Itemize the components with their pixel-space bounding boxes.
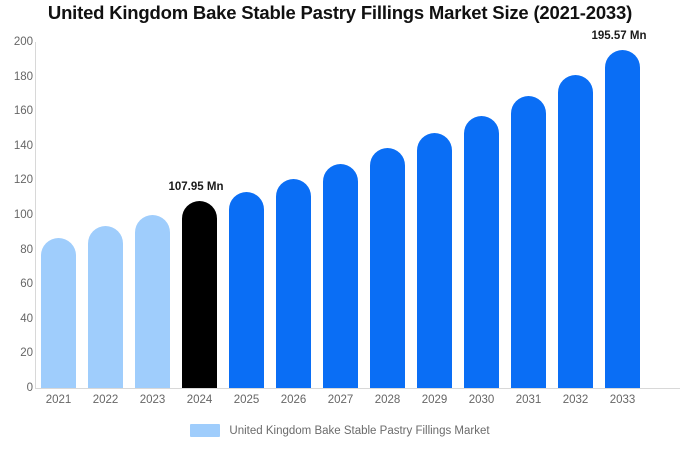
x-tick-label-2033: 2033 bbox=[599, 394, 646, 406]
x-tick-label-2028: 2028 bbox=[364, 394, 411, 406]
x-axis-ticks: 2021202220232024202520262027202820292030… bbox=[0, 0, 680, 450]
x-tick-label-2029: 2029 bbox=[411, 394, 458, 406]
x-tick-label-2023: 2023 bbox=[129, 394, 176, 406]
x-tick-label-2026: 2026 bbox=[270, 394, 317, 406]
legend-label: United Kingdom Bake Stable Pastry Fillin… bbox=[229, 425, 489, 437]
x-tick-label-2027: 2027 bbox=[317, 394, 364, 406]
x-tick-label-2024: 2024 bbox=[176, 394, 223, 406]
chart-legend: United Kingdom Bake Stable Pastry Fillin… bbox=[0, 424, 680, 437]
x-tick-label-2031: 2031 bbox=[505, 394, 552, 406]
x-tick-label-2030: 2030 bbox=[458, 394, 505, 406]
x-tick-label-2032: 2032 bbox=[552, 394, 599, 406]
x-tick-label-2025: 2025 bbox=[223, 394, 270, 406]
x-tick-label-2021: 2021 bbox=[35, 394, 82, 406]
bar-chart: United Kingdom Bake Stable Pastry Fillin… bbox=[0, 0, 680, 450]
x-tick-label-2022: 2022 bbox=[82, 394, 129, 406]
legend-swatch bbox=[190, 424, 220, 437]
